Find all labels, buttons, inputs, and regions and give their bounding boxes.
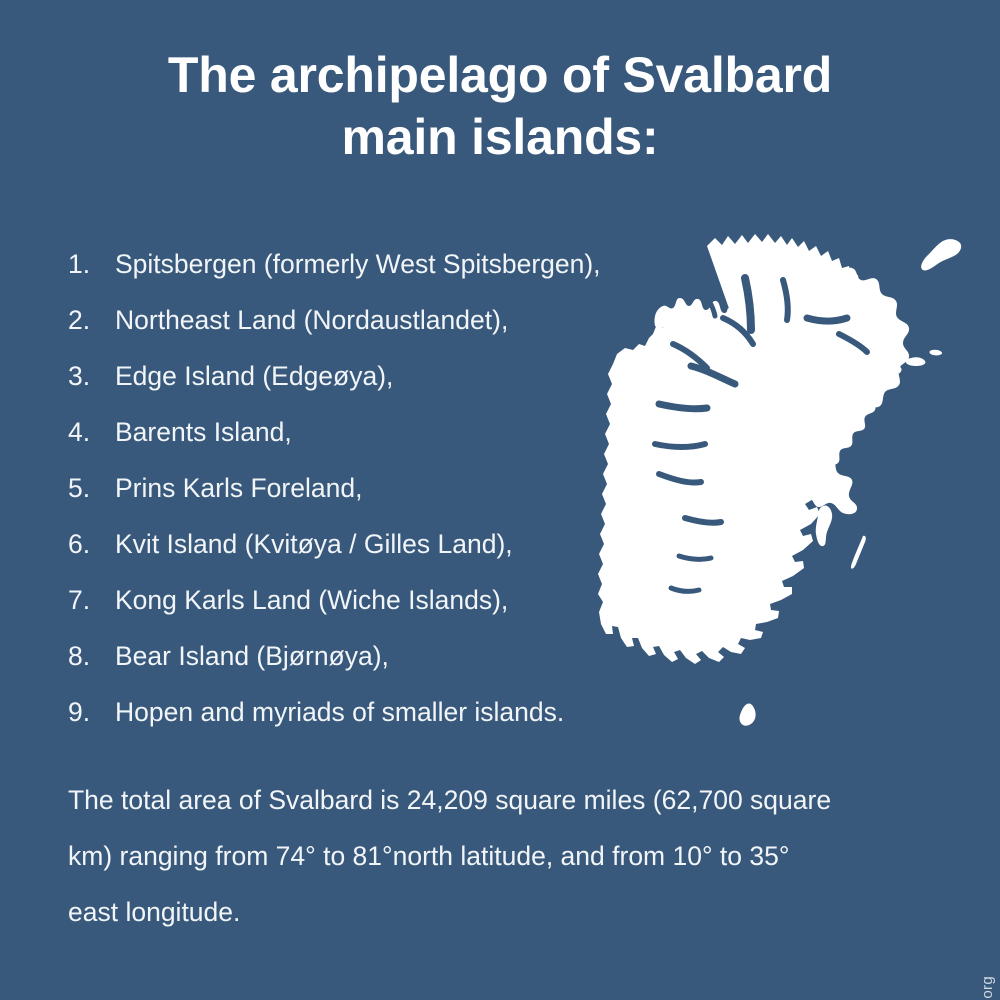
fjord-austfjorden bbox=[783, 280, 788, 320]
title-line-2: main islands: bbox=[0, 106, 1000, 168]
fjord-van-keulenfjorden bbox=[655, 444, 705, 447]
list-item-label: Barents Island, bbox=[115, 404, 292, 460]
fjord-south-2 bbox=[679, 556, 711, 559]
list-item-label: Hopen and myriads of smaller islands. bbox=[115, 684, 564, 740]
list-item-label: Edge Island (Edgeøya), bbox=[115, 348, 393, 404]
list-item-label: Kong Karls Land (Wiche Islands), bbox=[115, 572, 508, 628]
list-item-number: 9. bbox=[68, 684, 115, 740]
list-item-label: Spitsbergen (formerly West Spitsbergen), bbox=[115, 236, 601, 292]
summary-line-3: east longitude. bbox=[68, 884, 934, 940]
list-item-number: 7. bbox=[68, 572, 115, 628]
list-item-number: 5. bbox=[68, 460, 115, 516]
fjord-nordaustlandet-south bbox=[839, 334, 867, 352]
fjord-isfjorden bbox=[691, 366, 735, 384]
list-item-number: 1. bbox=[68, 236, 115, 292]
summary-line-1: The total area of Svalbard is 24,209 squ… bbox=[68, 772, 934, 828]
fjord-wijdefjorden-main bbox=[745, 278, 751, 330]
svalbard-map: 1 2 3 4 5 6 7 8 9 bbox=[595, 218, 1000, 758]
list-item-number: 3. bbox=[68, 348, 115, 404]
summary-line-2: km) ranging from 74° to 81°north latitud… bbox=[68, 828, 934, 884]
copyright-credit: ©Arctic Portal.org bbox=[979, 976, 996, 1000]
list-item-label: Kvit Island (Kvitøya / Gilles Land), bbox=[115, 516, 513, 572]
fjord-south-1 bbox=[685, 518, 721, 523]
list-item-label: Bear Island (Bjørnøya), bbox=[115, 628, 389, 684]
list-item-label: Northeast Land (Nordaustlandet), bbox=[115, 292, 508, 348]
fjord-woodfjorden bbox=[699, 286, 715, 316]
strait-hinlopen-north bbox=[807, 318, 847, 321]
map-fjord-overlay bbox=[595, 218, 1000, 758]
infographic-canvas: The archipelago of Svalbard main islands… bbox=[0, 0, 1000, 1000]
list-item-number: 8. bbox=[68, 628, 115, 684]
list-item-number: 2. bbox=[68, 292, 115, 348]
list-item-number: 6. bbox=[68, 516, 115, 572]
summary-paragraph: The total area of Svalbard is 24,209 squ… bbox=[68, 772, 934, 940]
fjord-hornsund bbox=[659, 474, 701, 483]
title-line-1: The archipelago of Svalbard bbox=[0, 44, 1000, 106]
fjord-van-mijenfjorden bbox=[659, 404, 707, 409]
list-item-label: Prins Karls Foreland, bbox=[115, 460, 362, 516]
list-item-number: 4. bbox=[68, 404, 115, 460]
page-title: The archipelago of Svalbard main islands… bbox=[0, 44, 1000, 168]
fjord-south-3 bbox=[671, 588, 699, 591]
